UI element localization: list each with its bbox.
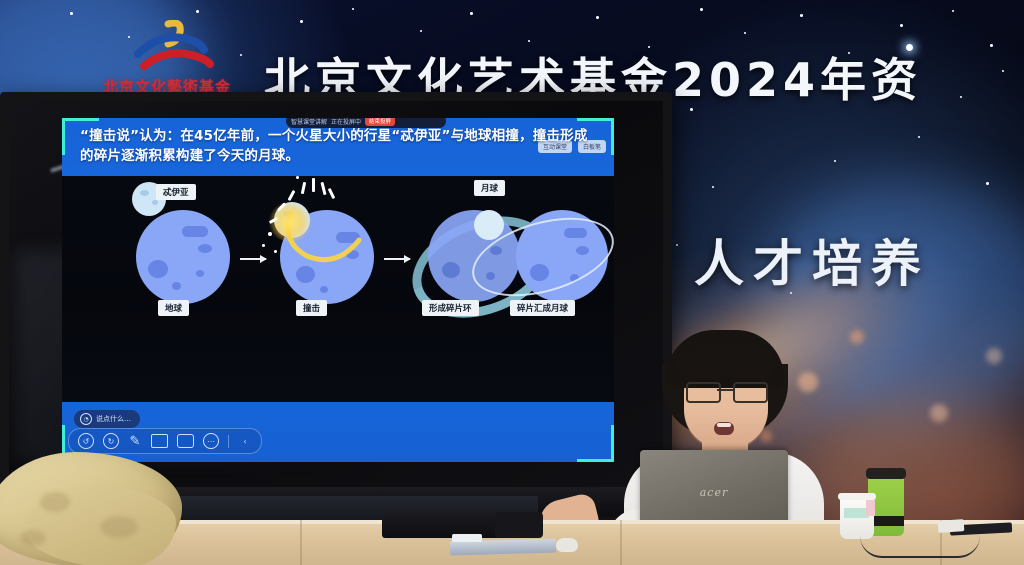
- camera-icon[interactable]: [177, 434, 194, 448]
- desk-dark-object-2: [495, 512, 543, 538]
- label-theia: 忒伊亚: [156, 184, 196, 200]
- redo-icon[interactable]: ↻: [103, 433, 119, 449]
- toolbar-divider: [228, 435, 229, 448]
- hair-fringe: [676, 344, 776, 378]
- more-icon[interactable]: ⋯: [203, 433, 219, 449]
- frame-corner-bottom-right: [577, 425, 614, 462]
- pen-icon[interactable]: ✎: [128, 434, 142, 448]
- label-moon: 月球: [474, 180, 505, 196]
- mouse[interactable]: [556, 538, 578, 552]
- screenshot-root: 北京文化藝術基金 北京文化艺术基金2024年资 人才培养 TOSHIBA 智慧课…: [0, 0, 1024, 565]
- ribbon-swirl-logo: [130, 20, 220, 72]
- label-earth: 地球: [158, 300, 189, 316]
- moon-body: [474, 210, 504, 240]
- arrow-1: [240, 258, 266, 260]
- foundation-logo: 北京文化藝術基金: [82, 18, 252, 100]
- slide-body-text: “撞击说”认为：在45亿年前，一个火星大小的行星“忒伊亚”与地球相撞，撞击形成的…: [80, 126, 594, 166]
- banner-subtitle: 人才培养: [694, 224, 930, 296]
- white-pad: [938, 519, 965, 533]
- collapse-icon[interactable]: ‹: [238, 434, 252, 448]
- cable: [860, 536, 980, 558]
- label-moon-forms: 碎片汇成月球: [510, 300, 575, 316]
- frame-corner-top-left: [62, 118, 99, 155]
- arrow-2: [384, 258, 410, 260]
- screencast-title: 智慧课堂讲解: [291, 118, 327, 126]
- impact-hypothesis-diagram: 忒伊亚 地球: [62, 176, 614, 402]
- label-debris-ring: 形成碎片环: [422, 300, 479, 316]
- whiteboard-tooltip-text: 说点什么…: [96, 414, 131, 424]
- eraser-icon[interactable]: [151, 434, 168, 448]
- stop-cast-button[interactable]: 结束投屏: [365, 118, 395, 126]
- chat-icon: ◔: [80, 413, 92, 425]
- green-cup-lid: [866, 468, 906, 479]
- screencast-subtitle: 正在投屏中: [331, 118, 361, 126]
- mouth: [714, 422, 734, 435]
- label-impact: 撞击: [296, 300, 327, 316]
- presentation-slide[interactable]: 智慧课堂讲解 正在投屏中 结束投屏 互动课堂 白板笔 “撞击说”认为：在45亿年…: [62, 118, 614, 462]
- desk-dark-object: [382, 508, 502, 538]
- laptop-brand: acer: [640, 486, 788, 499]
- frame-corner-top-right: [577, 118, 614, 155]
- earth-body-1: [136, 210, 230, 304]
- glasses-icon: [686, 382, 766, 400]
